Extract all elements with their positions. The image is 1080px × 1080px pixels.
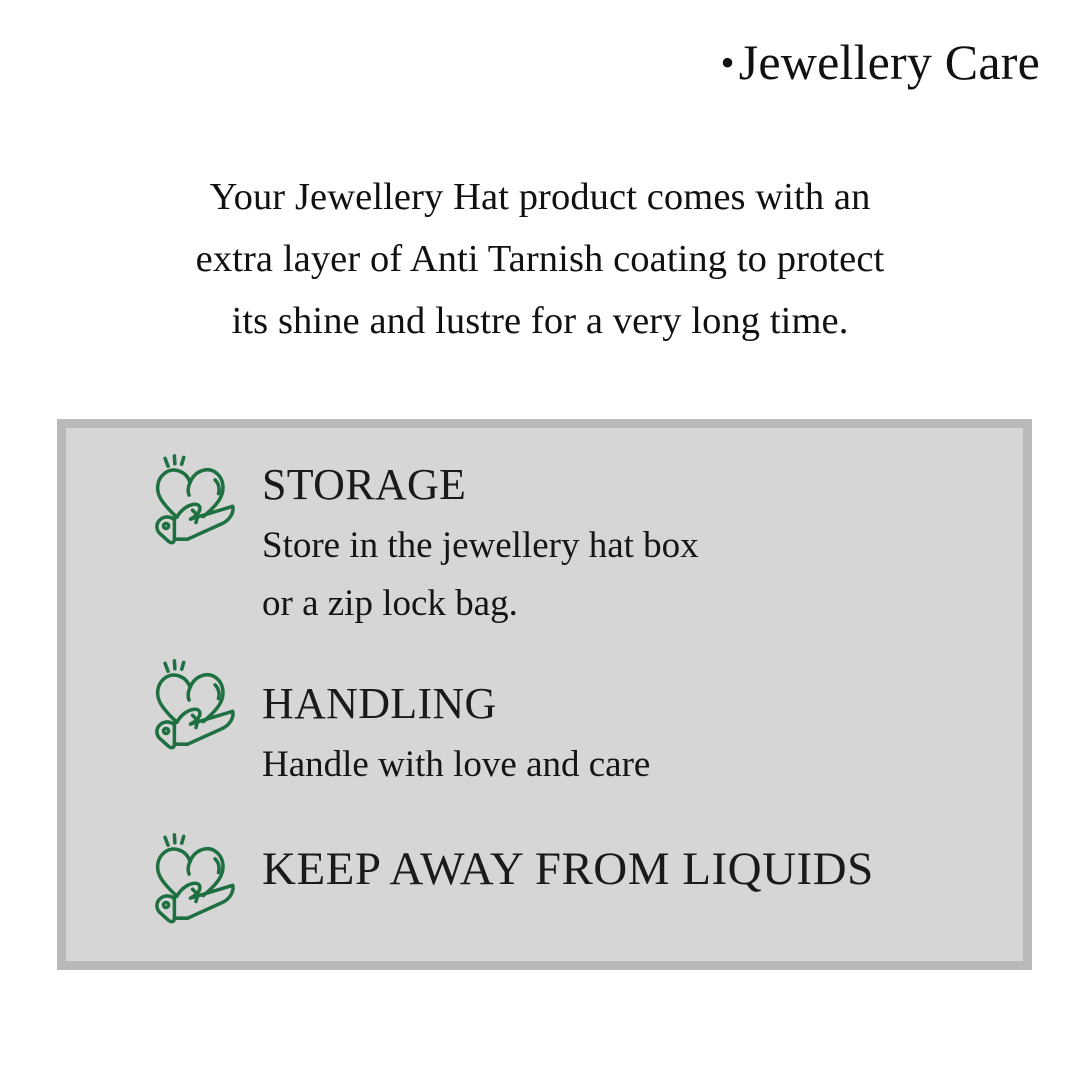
care-desc-line-2: or a zip lock bag. [262, 575, 699, 633]
care-instructions-panel: STORAGE Store in the jewellery hat box o… [57, 419, 1032, 970]
care-item-description: Store in the jewellery hat box or a zip … [262, 517, 699, 633]
care-item-heading: HANDLING [262, 679, 497, 728]
page-title-text: Jewellery Care [739, 34, 1040, 90]
intro-paragraph: Your Jewellery Hat product comes with an… [80, 166, 1000, 352]
intro-line-3: its shine and lustre for a very long tim… [80, 290, 1000, 352]
care-item-heading: KEEP AWAY FROM LIQUIDS [262, 843, 874, 895]
care-item-text: KEEP AWAY FROM LIQUIDS [262, 830, 874, 894]
care-item-text: STORAGE Store in the jewellery hat box o… [262, 451, 699, 633]
care-item-handling: HANDLING Handle with love and care [144, 656, 650, 794]
page-title: •Jewellery Care [0, 34, 1040, 92]
bullet-glyph: • [721, 40, 735, 85]
intro-line-2: extra layer of Anti Tarnish coating to p… [80, 228, 1000, 290]
heart-in-hand-icon [144, 656, 242, 754]
heart-in-hand-icon [144, 451, 242, 549]
care-item-keep-away-from-liquids: KEEP AWAY FROM LIQUIDS [144, 830, 874, 928]
care-desc-line-1: Store in the jewellery hat box [262, 517, 699, 575]
care-item-storage: STORAGE Store in the jewellery hat box o… [144, 451, 699, 633]
care-instructions-list: STORAGE Store in the jewellery hat box o… [66, 428, 1023, 961]
intro-line-1: Your Jewellery Hat product comes with an [80, 166, 1000, 228]
care-item-heading: STORAGE [262, 460, 466, 509]
care-item-text: HANDLING Handle with love and care [262, 656, 650, 794]
care-item-description: Handle with love and care [262, 736, 650, 794]
care-desc-line-1: Handle with love and care [262, 736, 650, 794]
heart-in-hand-icon [144, 830, 242, 928]
